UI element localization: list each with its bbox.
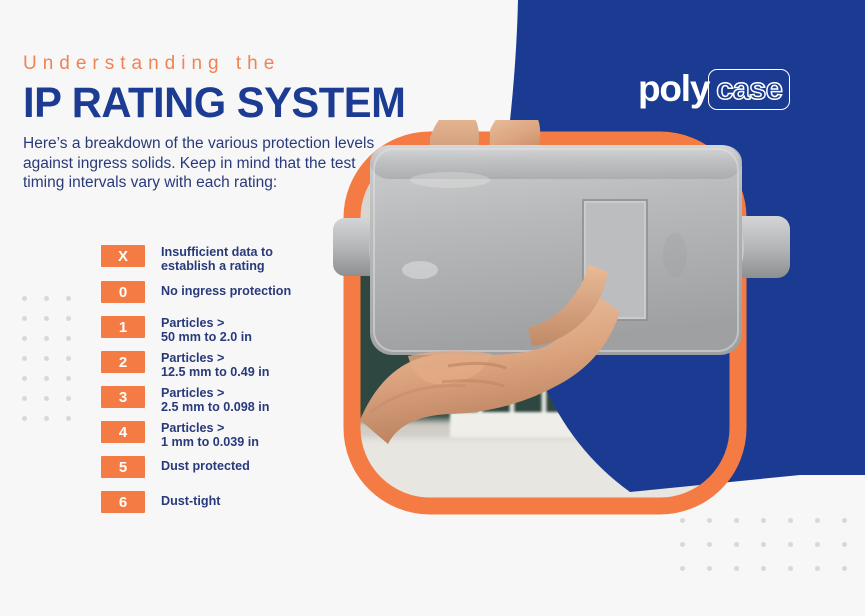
decor-dot <box>707 518 712 523</box>
page-kicker: Understanding the <box>23 52 483 76</box>
decor-dot <box>734 566 739 571</box>
decor-dot <box>761 566 766 571</box>
rating-label: No ingress protection <box>161 281 291 298</box>
decor-dot <box>44 296 49 301</box>
rating-label: Particles > 50 mm to 2.0 in <box>161 316 252 344</box>
decor-dot <box>66 356 71 361</box>
rating-row[interactable]: 1Particles > 50 mm to 2.0 in <box>101 316 252 344</box>
decor-dot <box>842 566 847 571</box>
rating-label: Dust-tight <box>161 491 220 508</box>
polycase-logo[interactable]: poly case <box>638 68 790 112</box>
decor-dot <box>66 296 71 301</box>
rating-badge: 1 <box>101 316 145 338</box>
decor-dot <box>44 336 49 341</box>
decor-dot <box>44 416 49 421</box>
rating-row[interactable]: 3Particles > 2.5 mm to 0.098 in <box>101 386 270 414</box>
decor-dot <box>44 376 49 381</box>
decor-dot <box>66 376 71 381</box>
rating-badge: 2 <box>101 351 145 373</box>
rating-label: Insufficient data to establish a rating <box>161 245 273 273</box>
decor-dot <box>842 518 847 523</box>
decor-dot <box>788 566 793 571</box>
decor-dot <box>66 336 71 341</box>
decor-dot <box>815 566 820 571</box>
infographic-canvas: Understanding the IP RATING SYSTEM Here’… <box>0 0 865 616</box>
rating-row[interactable]: 4Particles > 1 mm to 0.039 in <box>101 421 259 449</box>
rating-badge: 0 <box>101 281 145 303</box>
logo-text-poly: poly <box>638 68 709 110</box>
rating-label: Particles > 12.5 mm to 0.49 in <box>161 351 270 379</box>
decor-dot <box>680 566 685 571</box>
decor-dot <box>788 542 793 547</box>
decor-dot <box>44 396 49 401</box>
decor-dot <box>66 416 71 421</box>
decor-dot <box>734 542 739 547</box>
decor-dot <box>22 376 27 381</box>
decor-dot <box>22 336 27 341</box>
rating-row[interactable]: 6Dust-tight <box>101 491 220 513</box>
dot-grid-left <box>22 296 84 426</box>
decor-dot <box>815 542 820 547</box>
rating-row[interactable]: XInsufficient data to establish a rating <box>101 245 273 273</box>
decor-dot <box>761 518 766 523</box>
rating-badge: 6 <box>101 491 145 513</box>
product-photo <box>330 120 800 550</box>
decor-dot <box>66 396 71 401</box>
dot-grid-right <box>680 518 850 580</box>
decor-dot <box>680 518 685 523</box>
decor-dot <box>22 396 27 401</box>
decor-dot <box>734 518 739 523</box>
rating-label: Dust protected <box>161 456 250 473</box>
decor-dot <box>66 316 71 321</box>
decor-dot <box>22 316 27 321</box>
decor-dot <box>761 542 766 547</box>
rating-row[interactable]: 2Particles > 12.5 mm to 0.49 in <box>101 351 270 379</box>
decor-dot <box>22 416 27 421</box>
logo-text-case: case <box>716 71 782 106</box>
rating-badge: X <box>101 245 145 267</box>
rating-row[interactable]: 5Dust protected <box>101 456 250 478</box>
rating-row[interactable]: 0No ingress protection <box>101 281 291 303</box>
decor-dot <box>44 316 49 321</box>
rating-badge: 3 <box>101 386 145 408</box>
decor-dot <box>707 566 712 571</box>
decor-dot <box>22 356 27 361</box>
rating-label: Particles > 1 mm to 0.039 in <box>161 421 259 449</box>
decor-dot <box>842 542 847 547</box>
logo-case-box: case <box>708 69 790 110</box>
decor-dot <box>680 542 685 547</box>
decor-dot <box>44 356 49 361</box>
rating-badge: 4 <box>101 421 145 443</box>
rating-label: Particles > 2.5 mm to 0.098 in <box>161 386 270 414</box>
decor-dot <box>707 542 712 547</box>
decor-dot <box>22 296 27 301</box>
decor-dot <box>788 518 793 523</box>
product-photo-svg <box>330 120 800 550</box>
rating-badge: 5 <box>101 456 145 478</box>
decor-dot <box>815 518 820 523</box>
